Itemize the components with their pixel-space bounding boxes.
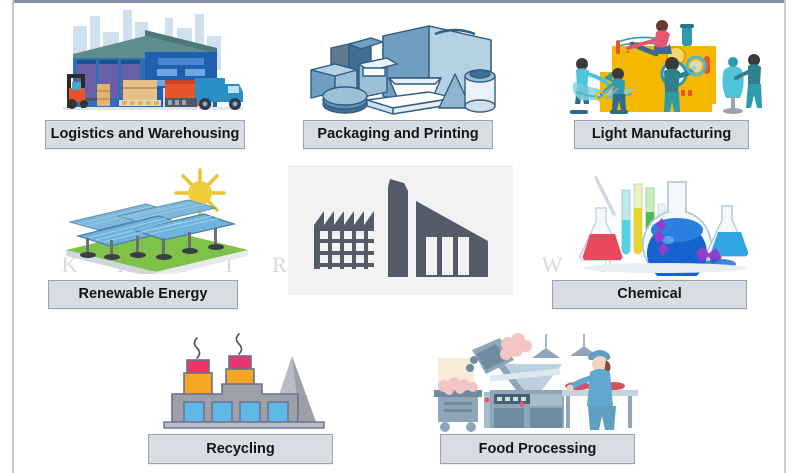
svg-text:=: = <box>626 50 630 56</box>
item-recycling-image <box>140 328 340 433</box>
slide-canvas: K H A I R U L N A W A W I khairulnawawi.… <box>0 0 800 473</box>
item-light-manufacturing-image: = <box>556 12 774 118</box>
item-logistics-and-warehousing-image <box>45 8 260 123</box>
caption-food-processing[interactable]: Food Processing <box>440 434 635 464</box>
slide-border-left <box>12 0 14 473</box>
caption-logistics-and-warehousing[interactable]: Logistics and Warehousing <box>45 120 245 149</box>
boxes-cartons-icon <box>305 18 500 118</box>
food-production-line-worker-icon <box>428 328 643 433</box>
caption-chemical[interactable]: Chemical <box>552 280 747 309</box>
item-renewable-energy-image <box>48 166 263 274</box>
caption-renewable-energy[interactable]: Renewable Energy <box>48 280 238 309</box>
caption-light-manufacturing[interactable]: Light Manufacturing <box>574 120 749 149</box>
item-packaging-and-printing-image <box>305 18 500 118</box>
slide-border-top <box>12 0 786 3</box>
slide-border-right <box>784 0 786 473</box>
item-center-factory-image <box>288 165 513 295</box>
sewing-machine-workers-icon: = <box>556 12 774 118</box>
factory-silhouette-icon <box>288 165 513 295</box>
caption-recycling[interactable]: Recycling <box>148 434 333 464</box>
factory-smokestacks-icon <box>140 328 340 433</box>
slide-margin-right <box>790 0 800 473</box>
laboratory-flasks-icon <box>570 168 760 276</box>
caption-packaging-and-printing[interactable]: Packaging and Printing <box>303 120 493 149</box>
solar-panels-sun-icon <box>48 166 263 274</box>
item-food-processing-image <box>428 328 643 433</box>
item-chemical-image <box>570 168 760 276</box>
warehouse-truck-forklift-icon <box>45 8 260 123</box>
